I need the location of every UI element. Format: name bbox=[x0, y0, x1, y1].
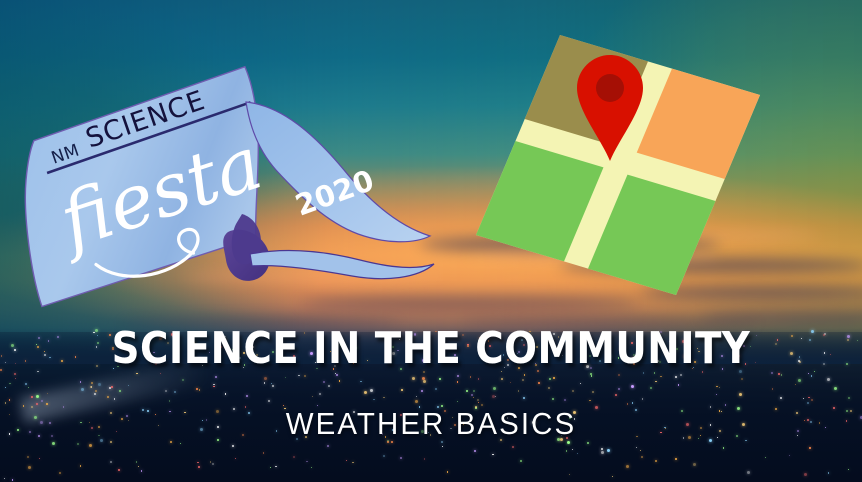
slide-canvas: NM SCIENCE fiesta 2020 bbox=[0, 0, 862, 482]
pin-hole bbox=[596, 74, 624, 102]
nm-science-fiesta-logo: NM SCIENCE fiesta 2020 bbox=[14, 84, 444, 289]
page-title: SCIENCE IN THE COMMUNITY bbox=[52, 326, 811, 372]
map-with-location-pin-icon bbox=[465, 55, 755, 285]
page-subtitle: WEATHER BASICS bbox=[22, 406, 841, 442]
